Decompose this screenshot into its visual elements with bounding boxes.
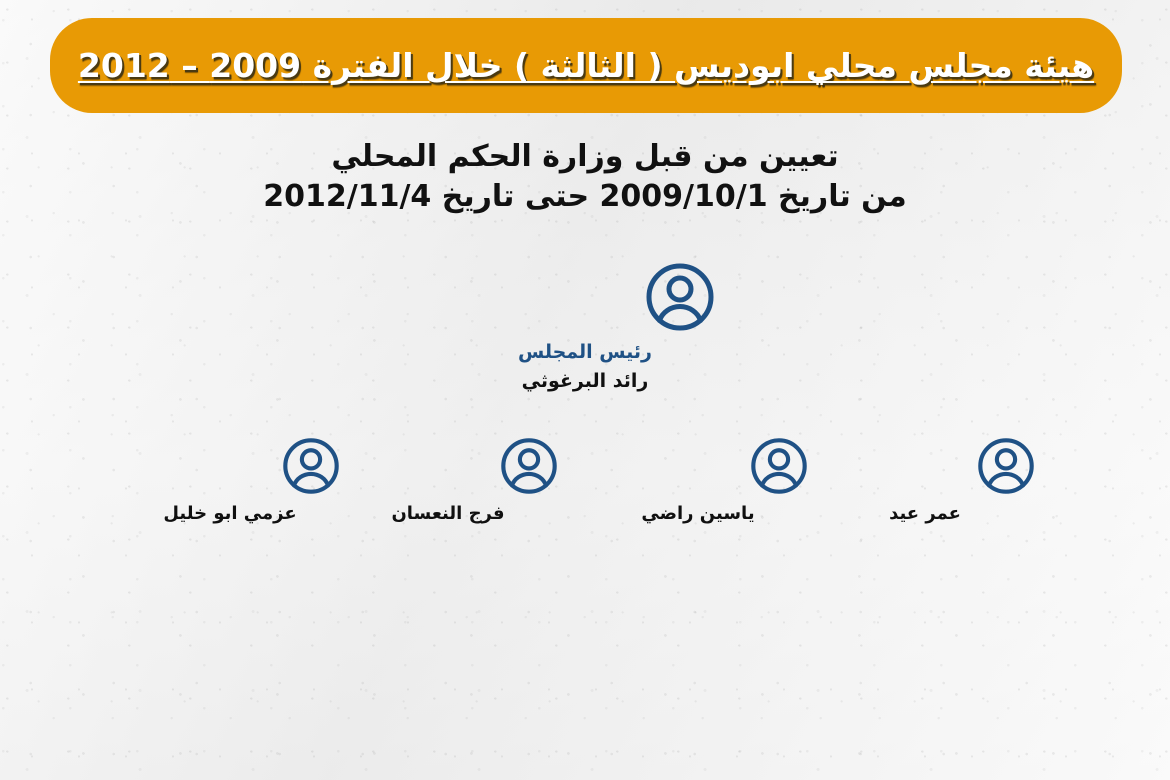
subtitle-block: تعيين من قبل وزارة الحكم المحلي من تاريخ… [0, 137, 1170, 217]
title-banner: هيئة مجلس محلي ابوديس ( الثالثة ) خلال ا… [50, 18, 1122, 113]
member-name-label: عزمي ابو خليل [120, 503, 340, 524]
user-avatar-icon [588, 437, 808, 495]
page-title: هيئة مجلس محلي ابوديس ( الثالثة ) خلال ا… [78, 46, 1094, 85]
subtitle-line-appointment: تعيين من قبل وزارة الحكم المحلي [0, 137, 1170, 177]
user-avatar-icon [338, 437, 558, 495]
person-member-3: عمر عيد [815, 437, 1035, 524]
member-name-label: فرج النعسان [338, 503, 558, 524]
user-avatar-icon [120, 437, 340, 495]
chairman-role-label: رئيس المجلس [455, 341, 715, 363]
person-member-1: فرج النعسان [338, 437, 558, 524]
person-member-2: ياسين راضي [588, 437, 808, 524]
person-member-0: عزمي ابو خليل [120, 437, 340, 524]
person-chairman: رئيس المجلس رائد البرغوثي [455, 262, 715, 392]
member-name-label: ياسين راضي [588, 503, 808, 524]
user-avatar-icon [455, 262, 715, 332]
user-avatar-icon [815, 437, 1035, 495]
member-name-label: عمر عيد [815, 503, 1035, 524]
chairman-name-label: رائد البرغوثي [455, 370, 715, 392]
subtitle-line-dates: من تاريخ 2009/10/1 حتى تاريخ 2012/11/4 [0, 177, 1170, 217]
